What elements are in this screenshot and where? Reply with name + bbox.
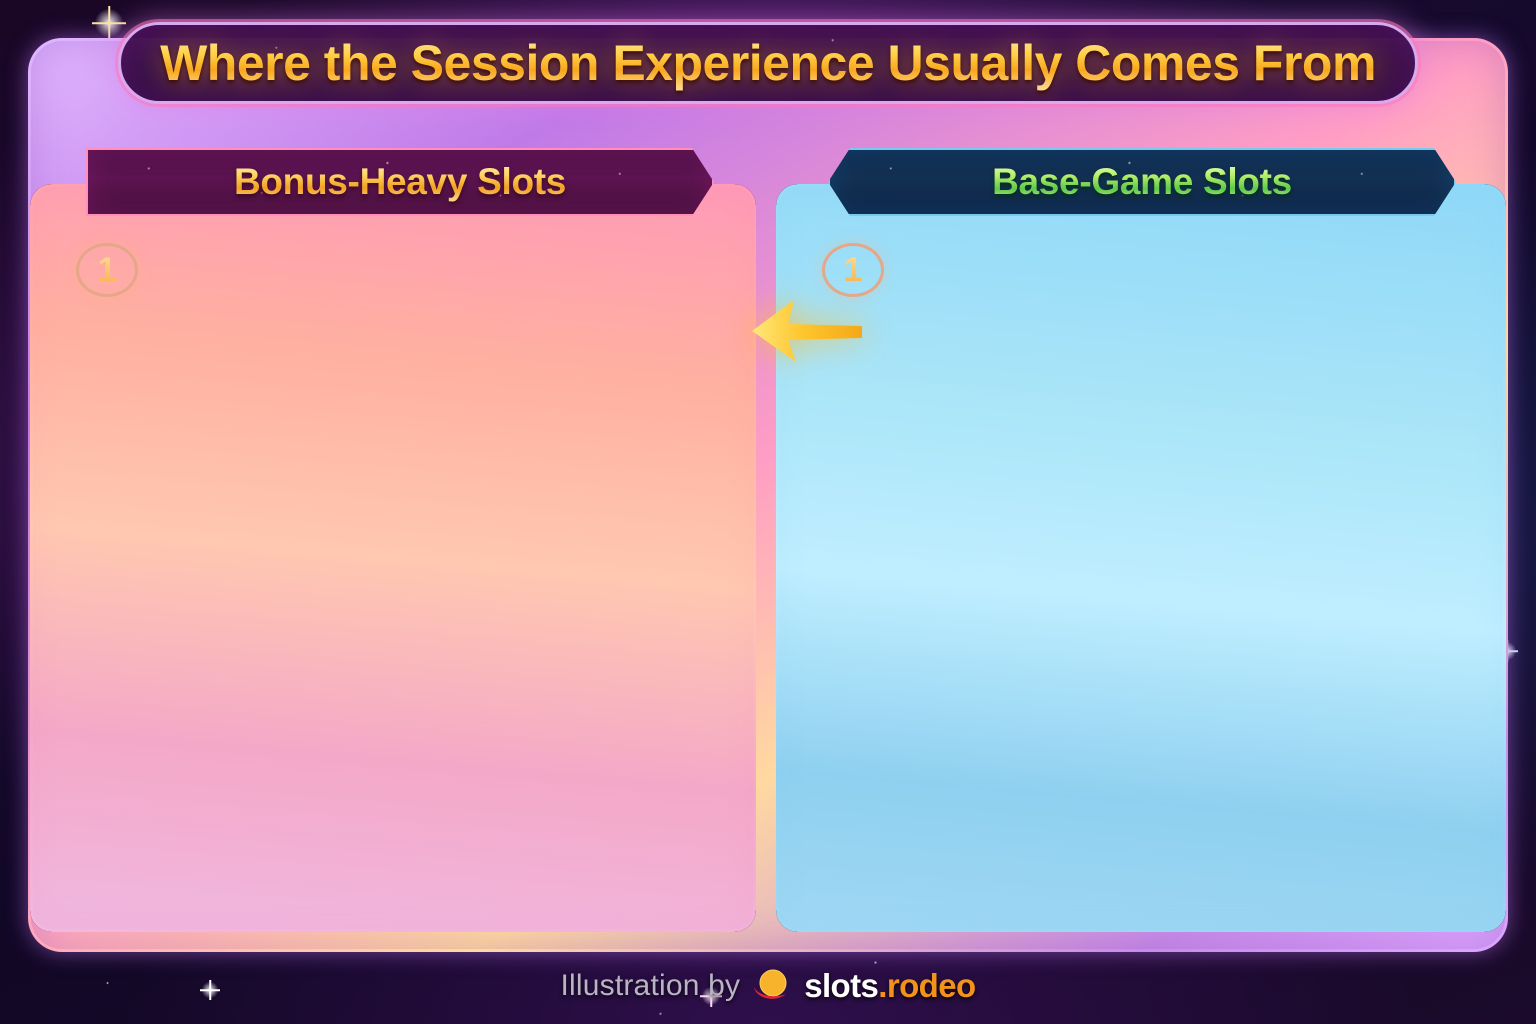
list-item-number: 4: [828, 724, 860, 762]
reel: ▬◈: [217, 272, 255, 338]
symbol-gem: ◈: [968, 273, 1003, 304]
reel: ◈♥: [859, 828, 891, 886]
sign-heart-scatter-top-left: ♥: [718, 276, 756, 338]
symbol-seven: 7: [896, 831, 924, 856]
pre-phrase: most: [876, 436, 938, 464]
sign-label: BONUS: [275, 874, 362, 898]
body-phrase: activity shapes the session feel: [1009, 526, 1368, 554]
feature-glyph-icon: ✦: [665, 286, 682, 306]
highlight-phrase: features: [876, 613, 968, 641]
list-bonus-heavy: 1 base game spins set up the session 2 m…: [30, 430, 756, 784]
body-phrase: experience remains in the base game: [968, 730, 1400, 758]
reel: ♥7: [824, 828, 856, 886]
symbol-gem: ◈: [896, 858, 924, 883]
symbol-heart: ♥: [1053, 273, 1088, 304]
reel: 77: [258, 272, 296, 338]
highlight-phrase: spins: [938, 436, 998, 464]
slot-reels: ♥7 ◈♥ 7◈ ♥7: [824, 828, 960, 886]
slot-reels: 7♥ ◈7 7◈ ♥7: [924, 270, 1090, 340]
sign-wild-rainbow-top-left: WILD WILD: [457, 266, 590, 326]
symbol-heart: ♥: [926, 306, 961, 337]
list-item: 2 much of the anticipation builds toward…: [82, 520, 720, 558]
slot-machine-illustration-right: 7♥ ◈7 7◈ ♥7: [896, 246, 1136, 378]
grid-symbol: 7: [1311, 818, 1347, 845]
sign-bonus-bottom-right: BONUS: [1126, 876, 1184, 906]
sign-bonus-bottom-left: BONUS: [258, 864, 378, 908]
lever-ball: [720, 802, 737, 819]
grid-symbol: ♥: [1349, 847, 1385, 874]
grid-symbol: ♥: [1234, 847, 1270, 874]
free-spins-label-2: SPINS: [589, 843, 664, 868]
lever-hub: [718, 852, 742, 876]
list-divider: [72, 497, 726, 499]
footer-credit-text: Illustration by: [560, 969, 740, 1003]
list-item-text: the core experience remains in the base …: [876, 724, 1401, 760]
brand-dot: .: [878, 967, 887, 1004]
grid-symbol: ◈: [1349, 875, 1385, 902]
grid-symbol: 7: [1426, 875, 1462, 902]
symbol-seven: 7: [260, 275, 294, 304]
symbol-grid-right: ♦ ◈ 7 ◈ 7 ♥ ♥ ◆ ◆ ♥ ◈ ◈ 7 ♥ ♥ ◈ 7 7: [1228, 812, 1468, 908]
list-item-number: 1: [82, 430, 114, 468]
brand-name: slots: [804, 967, 878, 1004]
lever-hub: [346, 306, 372, 332]
highlight-phrase: core: [919, 730, 969, 758]
free-spins-count: 10: [610, 868, 643, 898]
list-item: 4 the core experience remains in the bas…: [828, 724, 1470, 762]
grid-symbol: ◆: [1272, 847, 1308, 874]
list-item-text: features may still exist, but they are l…: [876, 607, 1440, 643]
highlight-phrase: bonus round: [130, 623, 272, 651]
panel-heading-banner-left: Bonus-Heavy Slots: [86, 148, 714, 216]
body-phrase: builds toward a feature: [399, 526, 664, 554]
bonus-character-icon: [1090, 880, 1118, 906]
lever-ball: [976, 810, 991, 825]
highlight-phrase: excitement: [130, 730, 253, 758]
free-spins-label-1: FREE: [594, 818, 661, 843]
list-item-text: excitement often builds around feature a…: [130, 724, 650, 760]
list-item: 3 bonus round or free spins often become…: [82, 617, 720, 684]
grid-symbol: ♥: [1272, 875, 1308, 902]
sign-wild-bottom-right: WILD ★✦✦: [1013, 822, 1092, 882]
list-item: 3 features may still exist, but they are…: [828, 607, 1470, 645]
scatter-stars-icon: ★✦✦: [1037, 856, 1067, 866]
slot-cabinet-base: [172, 350, 340, 374]
pre-phrase: the: [876, 730, 919, 758]
list-item-text: bonus round or free spins often become t…: [130, 617, 720, 684]
step-badge-left: 1: [76, 243, 138, 297]
free-spins-screen: FREE SPINS 10: [542, 806, 712, 910]
reel: 7◈: [894, 828, 926, 886]
sign-label: WILD: [1208, 279, 1269, 302]
highlight-phrase: regular spin: [876, 526, 1009, 554]
list-divider: [72, 717, 726, 719]
symbol-heart: ♥: [861, 858, 889, 883]
list-item: 4 excitement often builds around feature…: [82, 724, 720, 762]
grid-symbol: 7: [1387, 875, 1423, 902]
list-item: 1 base game spins set up the session: [82, 430, 720, 468]
sign-label: WILD: [102, 870, 171, 898]
symbol-heart-icon: ♥: [403, 865, 417, 889]
list-item-number: 3: [82, 617, 114, 655]
main-title-banner: Where the Session Experience Usually Com…: [118, 22, 1418, 104]
panel-heading-left: Bonus-Heavy Slots: [234, 161, 566, 203]
list-divider: [818, 717, 1476, 719]
list-item-number: 2: [82, 520, 114, 558]
slot-cabinet-base: [918, 356, 1094, 378]
symbol-heart: ♥: [178, 275, 212, 304]
symbol-diamond: ▼: [300, 306, 334, 335]
list-item: 2 regular spin activity shapes the sessi…: [828, 520, 1470, 558]
symbol-seven: 7: [260, 306, 294, 335]
page-title: Where the Session Experience Usually Com…: [160, 34, 1376, 92]
list-item-text: regular spin activity shapes the session…: [876, 520, 1368, 556]
symbol-heart-icon: ♥: [738, 294, 753, 321]
sign-label: WILD: [1462, 282, 1506, 301]
grid-symbol: 7: [1387, 818, 1423, 845]
reel: ♥7: [1051, 270, 1090, 340]
list-item-number: 3: [828, 607, 860, 645]
grid-symbol: ◈: [1426, 847, 1462, 874]
reel: ♥7: [928, 828, 960, 886]
symbol-seven: 7: [968, 306, 1003, 337]
body-phrase: happen in the main game flow: [998, 436, 1345, 464]
symbol-seven: 7: [926, 273, 961, 304]
symbol-gem: ◈: [861, 831, 889, 856]
body-phrase: may still exist, but they are less domin…: [968, 613, 1440, 641]
sign-wild-bonus-top-right: WILD BONUS: [1438, 266, 1506, 336]
symbol-seven: 7: [930, 858, 958, 883]
sign-bonus-top-left: BONUS: [634, 336, 744, 376]
body-phrase: set up the session: [323, 436, 536, 464]
lever-hub: [974, 854, 996, 876]
list-item-number: 4: [82, 724, 114, 762]
sign-label: WILD: [496, 274, 554, 296]
panel-bonus-heavy: ♥▼ ▬◈ 77 ♥▼ WILD WILD ✦ ♥ BONUS 1 base g…: [30, 184, 756, 932]
panel-heading-banner-right: Base-Game Slots: [828, 148, 1456, 216]
lever-ball: [348, 252, 366, 270]
list-item-text: base game spins set up the session: [130, 430, 535, 466]
symbol-heart: ♥: [826, 831, 854, 856]
lever-ball: [1106, 246, 1124, 264]
treasure-chest-icon: [458, 844, 524, 898]
panel-base-game: 7♥ ◈7 7◈ ♥7 WILD ✦✦✦✦ ♥ ◈ 10BS WILD BONU…: [776, 184, 1506, 932]
feature-glyph-icon: ✦: [1126, 847, 1139, 863]
grid-symbol: ◆: [1311, 847, 1347, 874]
panel-heading-right: Base-Game Slots: [992, 161, 1292, 203]
slot-reels: ♥▼ ▬◈ 77 ♥▼: [176, 272, 336, 338]
sign-label: WILD: [306, 831, 359, 851]
slot-cabinet-base: [820, 898, 964, 916]
sign-wild-green-top-right: WILD ✦✦✦✦: [1173, 268, 1302, 326]
symbol-heart: ♥: [300, 275, 334, 304]
list-base-game: 1 most spins happen in the main game flo…: [776, 430, 1506, 784]
brand-tld: rodeo: [887, 967, 976, 1004]
sign-label: BONUS: [646, 344, 733, 368]
sign-label: 10BS: [1355, 287, 1410, 309]
grid-symbol: ♥: [1426, 818, 1462, 845]
sign-10bs-top-right: 10BS: [1336, 260, 1430, 336]
brand-wordmark: slots.rodeo: [804, 967, 975, 1005]
sign-label: BONUS: [1452, 301, 1506, 320]
sign-label: BONUS: [1130, 884, 1181, 898]
symbol-gem: ◈: [219, 306, 253, 335]
reel: ◈7: [966, 270, 1005, 340]
reel: ♥▼: [298, 272, 336, 338]
reel: 7♥: [924, 270, 963, 340]
lever-stick: [981, 820, 986, 858]
symbol-heart: ♥: [930, 831, 958, 856]
symbol-seven: 7: [1053, 306, 1088, 337]
bonus-character-icon: [576, 294, 614, 338]
step-badge-right: 1: [822, 243, 884, 297]
lever-ball: [1470, 804, 1486, 820]
lever-hub: [1104, 302, 1130, 328]
slot-coin-tray: [180, 342, 336, 349]
grid-symbol: ♥: [1311, 875, 1347, 902]
slots-rodeo-logo-icon: [752, 966, 792, 1006]
grid-symbol: ◈: [1272, 818, 1308, 845]
highlight-phrase: much of the anticipation: [130, 526, 399, 554]
grid-symbol: ◈: [1349, 818, 1385, 845]
grid-symbol: 7: [1234, 875, 1270, 902]
sign-heart-bottom-left: ♥: [382, 848, 438, 906]
symbol-gem: ◈: [1011, 306, 1046, 337]
sign-feature-frame-top-left: ✦: [626, 262, 720, 330]
sign-wild-green2-bottom-left: WILD: [279, 812, 384, 870]
lever-hub: [1468, 850, 1490, 872]
bottom-art-left: ★ WILD WILD ✦ WILD BONUS ♥ FREE SPINS 10: [30, 802, 756, 922]
arrow-right-icon: [1182, 838, 1222, 876]
list-item-number: 2: [828, 520, 860, 558]
grid-symbol: ♦: [1234, 818, 1270, 845]
symbol-seven: 7: [1011, 273, 1046, 304]
lever-stick: [1113, 260, 1118, 308]
slot-machine-illustration-left: ♥▼ ▬◈ 77 ♥▼: [150, 250, 378, 374]
reel: 7◈: [1009, 270, 1048, 340]
scatter-stars-icon: ✦✦✦✦: [1211, 302, 1264, 315]
symbol-bar: ▬: [219, 275, 253, 304]
feature-glyph-icon: ✦: [228, 849, 245, 869]
footer-credit: Illustration by slots.rodeo: [0, 960, 1536, 1012]
sign-label: WILD: [494, 296, 552, 318]
sign-label: WILD: [1031, 838, 1076, 855]
body-phrase: often builds around feature access: [253, 730, 650, 758]
highlight-phrase: base game spins: [130, 436, 323, 464]
symbol-diamond: ▼: [178, 306, 212, 335]
bottom-art-right: ♥7 ◈♥ 7◈ ♥7 WILD ★✦✦ ✦ BONUS ♦ ◈ 7: [776, 802, 1506, 922]
reel: ♥▼: [176, 272, 214, 338]
sign-wild-purple-bottom-left: WILD: [74, 858, 198, 910]
grid-symbol: ◈: [1387, 847, 1423, 874]
list-item-number: 1: [828, 430, 860, 468]
list-item-text: much of the anticipation builds toward a…: [130, 520, 664, 556]
list-item-text: most spins happen in the main game flow: [876, 430, 1345, 466]
symbol-seven: 7: [826, 858, 854, 883]
list-item: 1 most spins happen in the main game flo…: [828, 430, 1470, 468]
sign-label: WILD: [112, 832, 165, 852]
list-divider: [818, 497, 1476, 499]
slot-machine-bottom-right: ♥7 ◈♥ 7◈ ♥7: [802, 808, 998, 916]
